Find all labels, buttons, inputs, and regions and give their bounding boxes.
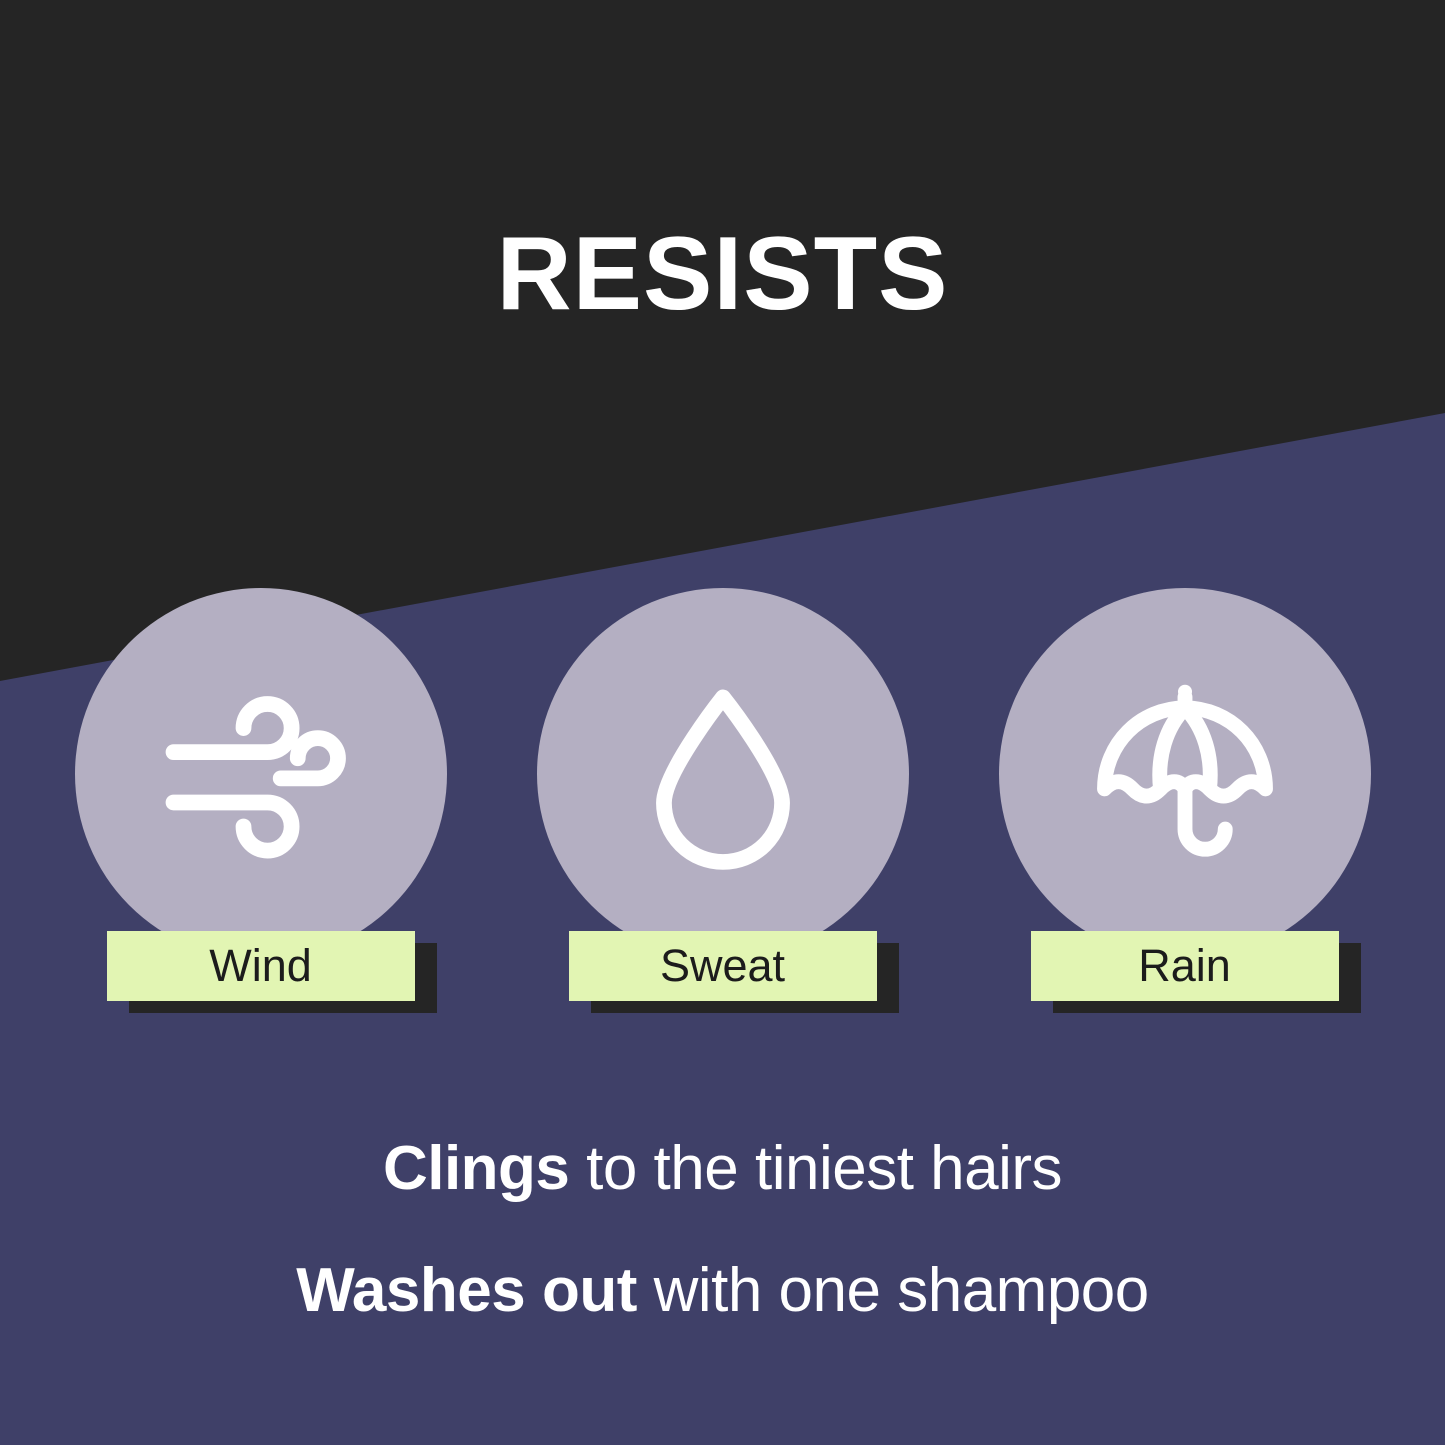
umbrella-icon [1080,669,1290,879]
claims-block: Clings to the tiniest hairs Washes out w… [0,1108,1445,1352]
chip-label-wind: Wind [107,931,415,1001]
icon-circle-wind [75,588,447,960]
label-chip-rain: Rain [1031,931,1339,1001]
claim-1-emphasis: Clings [383,1134,569,1203]
wind-icon [156,669,366,879]
claim-2-emphasis: Washes out [296,1256,637,1325]
claim-line-2: Washes out with one shampoo [0,1230,1445,1352]
feature-sweat: Sweat [537,588,909,960]
claim-2-rest: with one shampoo [637,1256,1149,1325]
feature-list: Wind Sweat [0,588,1445,960]
chip-label-rain: Rain [1031,931,1339,1001]
icon-circle-sweat [537,588,909,960]
claim-line-1: Clings to the tiniest hairs [0,1108,1445,1230]
label-chip-wind: Wind [107,931,415,1001]
page-title: RESISTS [0,222,1445,326]
icon-circle-rain [999,588,1371,960]
claim-1-rest: to the tiniest hairs [569,1134,1062,1203]
resists-product-graphic: RESISTS Wind [0,0,1445,1445]
chip-label-sweat: Sweat [569,931,877,1001]
feature-wind: Wind [75,588,447,960]
feature-rain: Rain [999,588,1371,960]
label-chip-sweat: Sweat [569,931,877,1001]
water-drop-icon [618,669,828,879]
